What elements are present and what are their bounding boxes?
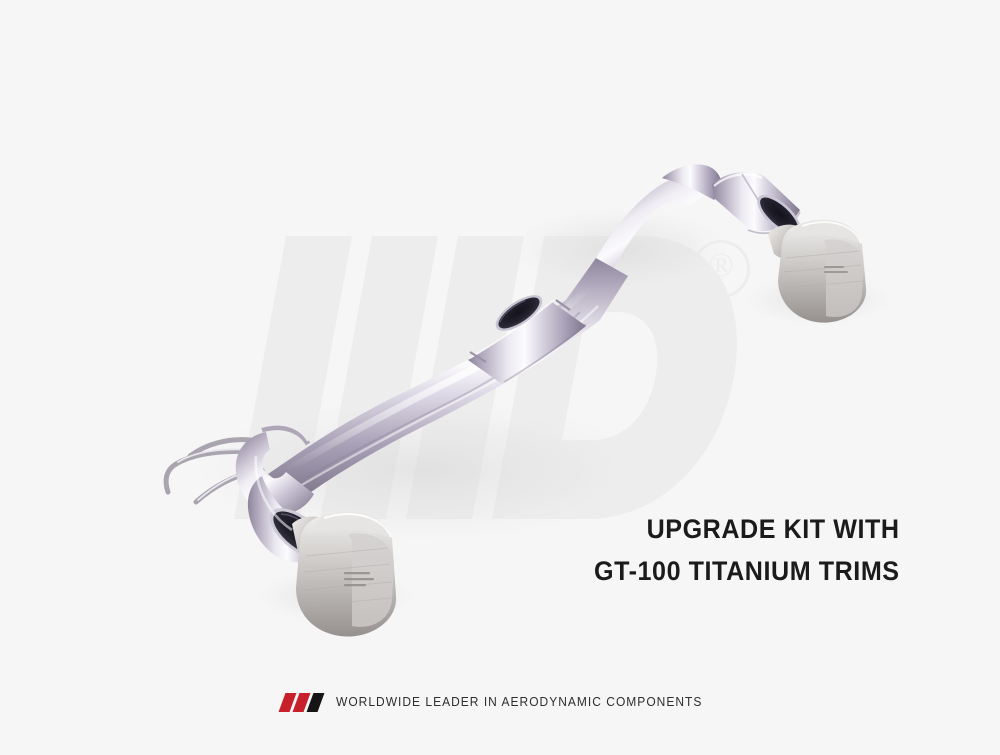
footer-bar: WORLDWIDE LEADER IN AERODYNAMIC COMPONEN… [0, 688, 1000, 716]
headline-line-2: GT-100 TITANIUM TRIMS [594, 550, 900, 592]
product-headline: UPGRADE KIT WITH GT-100 TITANIUM TRIMS [594, 508, 900, 592]
brand-logo-icon [282, 693, 324, 712]
product-image-canvas: ® [0, 0, 1000, 750]
titanium-trim-left [292, 512, 396, 637]
headline-line-1: UPGRADE KIT WITH [594, 508, 900, 550]
footer-tagline: WORLDWIDE LEADER IN AERODYNAMIC COMPONEN… [336, 695, 702, 709]
